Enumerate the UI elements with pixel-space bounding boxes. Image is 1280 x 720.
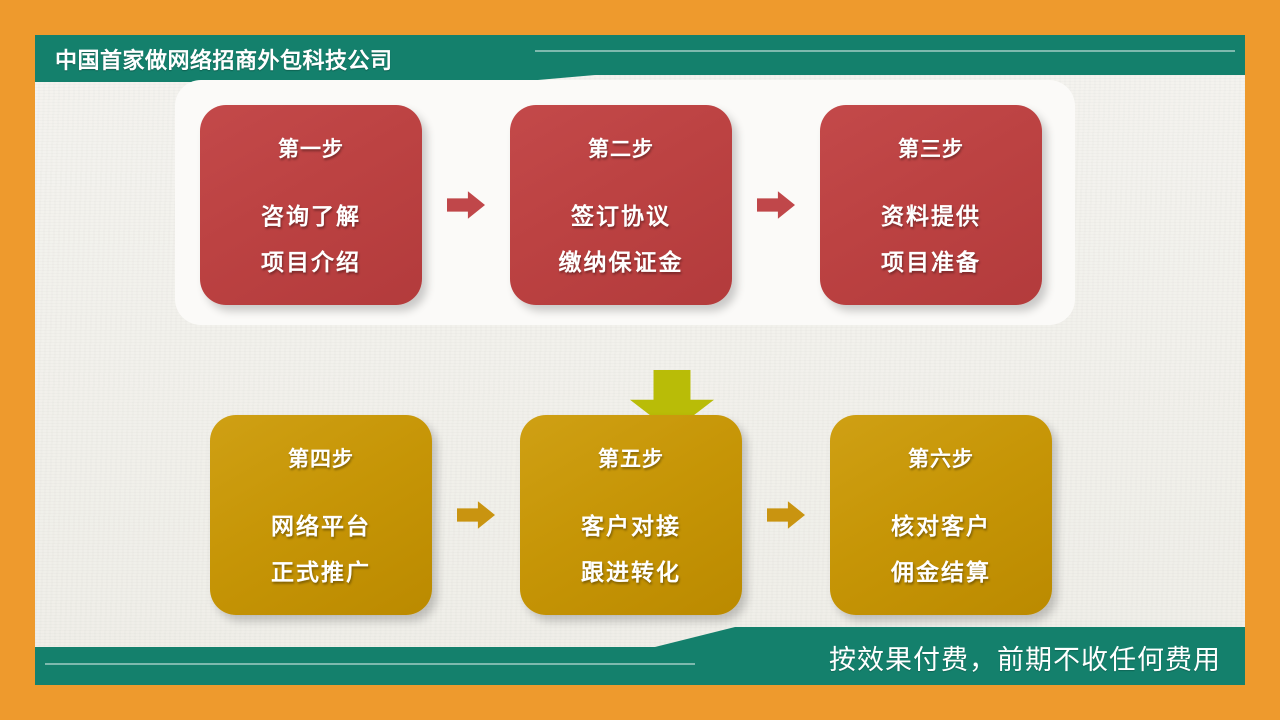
step-card-4-line-2: 正式推广 — [271, 553, 371, 587]
step-card-5-line-2: 跟进转化 — [581, 553, 681, 587]
arrow-right-icon-2 — [732, 185, 820, 225]
step-card-2-line-1: 签订协议 — [571, 197, 671, 231]
step-card-2-title: 第二步 — [588, 133, 654, 163]
step-card-4-line-1: 网络平台 — [271, 507, 371, 541]
arrow-right-glyph — [757, 190, 795, 220]
step-card-5-line-1: 客户对接 — [581, 507, 681, 541]
step-card-2-line-2: 缴纳保证金 — [559, 243, 684, 277]
arrow-right-icon-1 — [422, 185, 510, 225]
arrow-right-icon-3 — [432, 495, 520, 535]
step-card-4-title: 第四步 — [288, 443, 354, 473]
step-card-6[interactable]: 第六步 核对客户 佣金结算 — [830, 415, 1052, 615]
arrow-right-glyph — [447, 190, 485, 220]
step-card-3[interactable]: 第三步 资料提供 项目准备 — [820, 105, 1042, 305]
step-card-5[interactable]: 第五步 客户对接 跟进转化 — [520, 415, 742, 615]
step-card-3-lines: 资料提供 项目准备 — [881, 197, 981, 277]
slide-root: 中国首家做网络招商外包科技公司 第一步 咨询了解 项目介绍 第二步 签订协议 缴… — [0, 0, 1280, 720]
arrow-right-glyph — [457, 500, 495, 530]
step-card-3-line-2: 项目准备 — [881, 243, 981, 277]
step-card-1-lines: 咨询了解 项目介绍 — [261, 197, 361, 277]
step-card-1-line-2: 项目介绍 — [261, 243, 361, 277]
step-card-6-title: 第六步 — [908, 443, 974, 473]
footer-hairline-divider — [45, 663, 695, 665]
step-card-3-line-1: 资料提供 — [881, 197, 981, 231]
step-card-2[interactable]: 第二步 签订协议 缴纳保证金 — [510, 105, 732, 305]
step-card-4-lines: 网络平台 正式推广 — [271, 507, 371, 587]
flow-row-top: 第一步 咨询了解 项目介绍 第二步 签订协议 缴纳保证金 第 — [200, 105, 1042, 305]
page-title: 中国首家做网络招商外包科技公司 — [55, 43, 393, 75]
step-card-4[interactable]: 第四步 网络平台 正式推广 — [210, 415, 432, 615]
step-card-1-line-1: 咨询了解 — [261, 197, 361, 231]
step-card-1[interactable]: 第一步 咨询了解 项目介绍 — [200, 105, 422, 305]
footer-tagline: 按效果付费，前期不收任何费用 — [829, 638, 1221, 677]
step-card-6-line-2: 佣金结算 — [891, 553, 991, 587]
flow-row-bottom: 第四步 网络平台 正式推广 第五步 客户对接 跟进转化 第六 — [210, 415, 1052, 615]
arrow-right-icon-4 — [742, 495, 830, 535]
step-card-1-title: 第一步 — [278, 133, 344, 163]
slide-canvas: 中国首家做网络招商外包科技公司 第一步 咨询了解 项目介绍 第二步 签订协议 缴… — [35, 35, 1245, 685]
step-card-2-lines: 签订协议 缴纳保证金 — [559, 197, 684, 277]
step-card-6-line-1: 核对客户 — [891, 507, 991, 541]
step-card-5-title: 第五步 — [598, 443, 664, 473]
header-hairline-divider — [535, 50, 1235, 52]
step-card-6-lines: 核对客户 佣金结算 — [891, 507, 991, 587]
arrow-right-glyph — [767, 500, 805, 530]
step-card-5-lines: 客户对接 跟进转化 — [581, 507, 681, 587]
step-card-3-title: 第三步 — [898, 133, 964, 163]
